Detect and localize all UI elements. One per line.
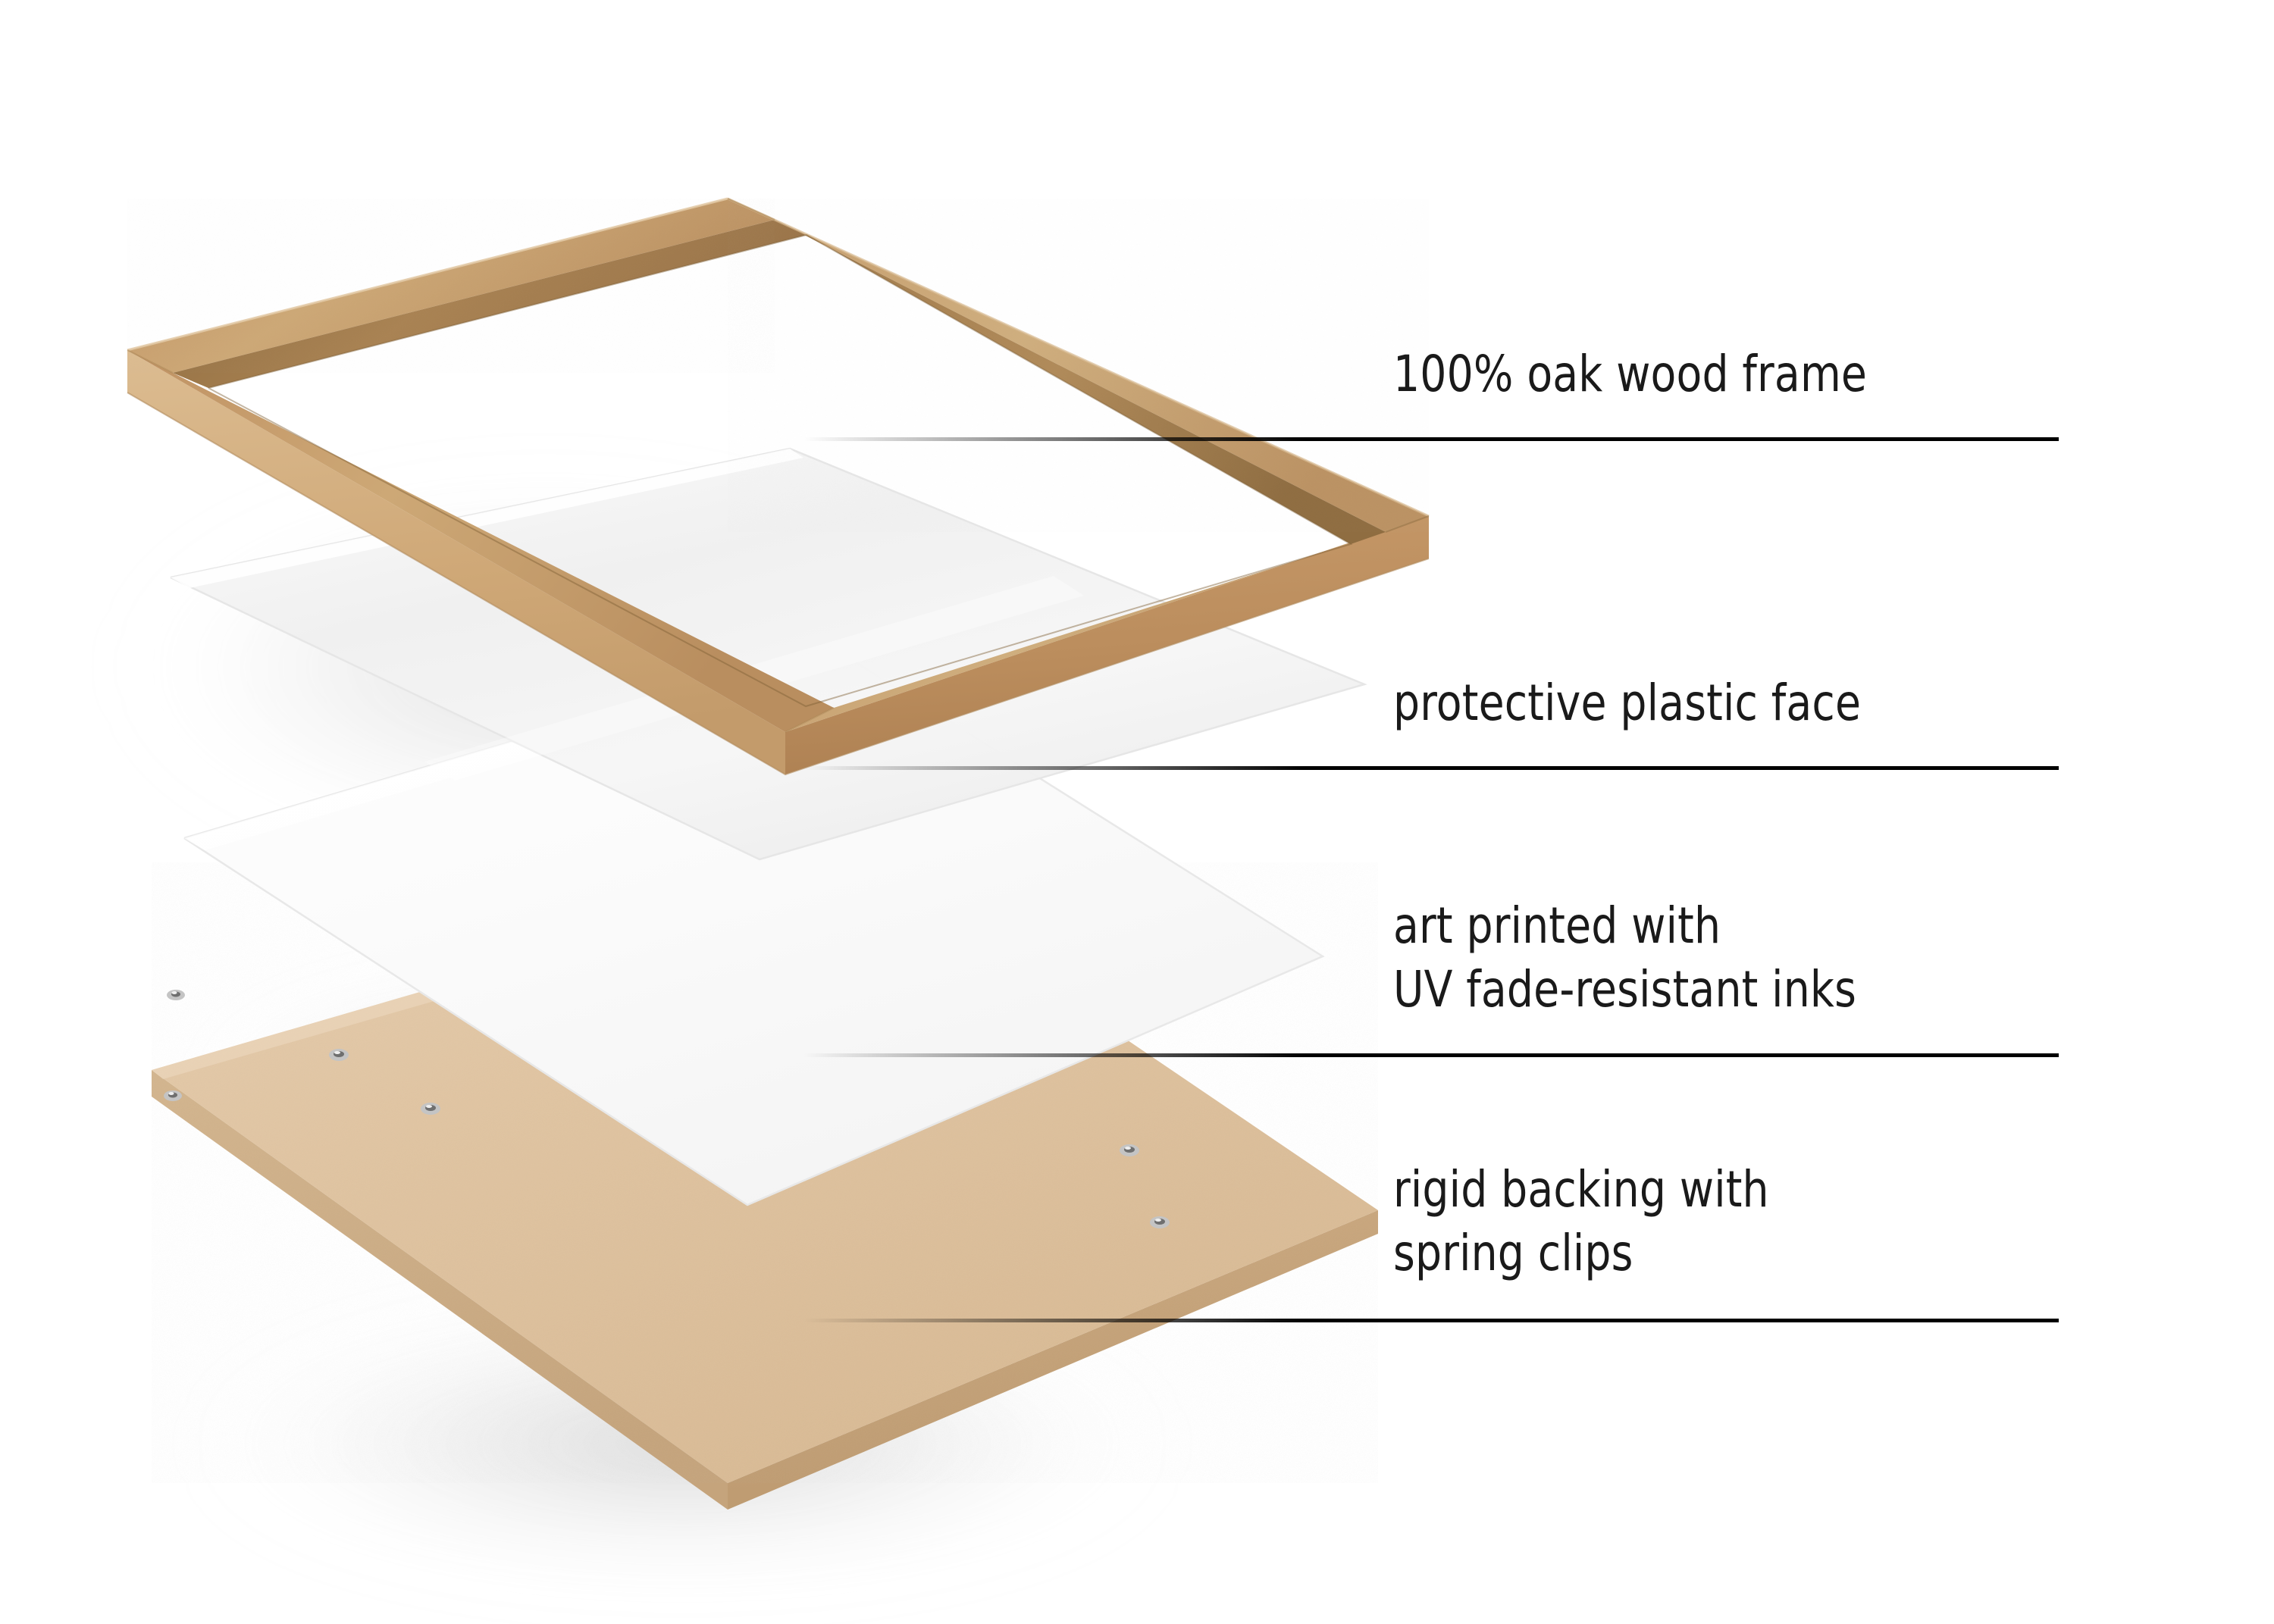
callout-line-1: rigid backing with <box>1393 1160 1769 1219</box>
frame-rabbet-top-left <box>173 220 807 388</box>
callout-line-2: spring clips <box>1393 1224 1633 1282</box>
callout-line-1: art printed with <box>1393 896 1721 955</box>
product-exploded-illustration <box>0 0 2274 1624</box>
callout-label-art-print: art printed withUV fade-resistant inks <box>1393 894 1856 1022</box>
leader-line-frame <box>803 437 2059 441</box>
leader-line-backing <box>803 1319 2059 1322</box>
leader-line-art <box>803 1053 2059 1057</box>
spring-clip <box>329 1049 349 1061</box>
spring-clip <box>167 990 185 1000</box>
spring-clip <box>164 1090 182 1101</box>
spring-clip <box>421 1103 440 1115</box>
frame-grain-left <box>127 199 775 373</box>
callout-line-2: UV fade-resistant inks <box>1393 960 1856 1019</box>
callout-label-backing: rigid backing withspring clips <box>1393 1158 1769 1285</box>
spring-clip <box>1120 1144 1139 1156</box>
leader-line-plastic <box>803 766 2059 770</box>
exploded-diagram-page: 100% oak wood frame protective plastic f… <box>0 0 2274 1624</box>
callout-label-frame: 100% oak wood frame <box>1393 343 1867 406</box>
spring-clip <box>1150 1216 1170 1228</box>
callout-label-plastic: protective plastic face <box>1393 671 1861 735</box>
